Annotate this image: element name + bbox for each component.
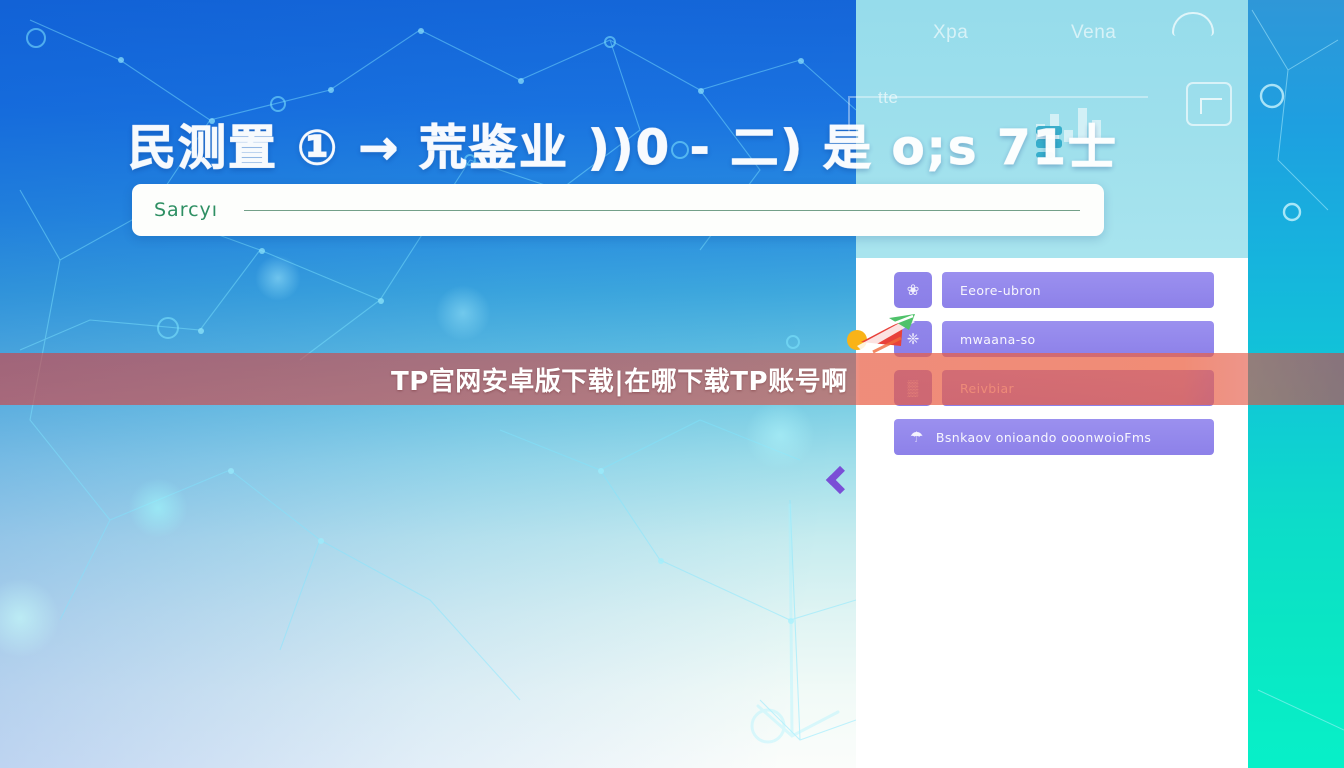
search-divider-rule [244, 210, 1080, 211]
search-input-placeholder[interactable]: Sarcyı [154, 199, 218, 221]
search-bar[interactable]: Sarcyı [132, 184, 1104, 236]
cyan-panel-label-2: Vena [1071, 22, 1116, 44]
cyan-panel-label-1: Xpa [933, 22, 968, 44]
page-root: Xpa Vena tte 民测置 ① → 荒鉴业 ))0 - 二) 是 o;s … [0, 0, 1344, 768]
list-item-label: Eeore-ubron [942, 272, 1214, 308]
page-headline: 民测置 ① → 荒鉴业 ))0 - 二) 是 o;s 71士 [128, 108, 1068, 168]
cloud-glyph-icon [1172, 12, 1214, 36]
umbrella-badge-icon: ☂ [910, 428, 924, 446]
title-banner: TP官网安卓版下载|在哪下载TP账号啊 [0, 353, 1344, 405]
square-frame-icon [1186, 82, 1232, 126]
flower-badge-icon: ❀ [894, 272, 932, 308]
list-item[interactable]: ❀Eeore-ubron [894, 272, 1214, 308]
list-item-wide-label: Bsnkaov onioando ooonwoioFms [936, 430, 1151, 445]
list-item-label: mwaana-so [942, 321, 1214, 357]
list-item-wide[interactable]: ☂Bsnkaov onioando ooonwoioFms [894, 419, 1214, 455]
banner-title-text: TP官网安卓版下载|在哪下载TP账号啊 [391, 361, 848, 398]
